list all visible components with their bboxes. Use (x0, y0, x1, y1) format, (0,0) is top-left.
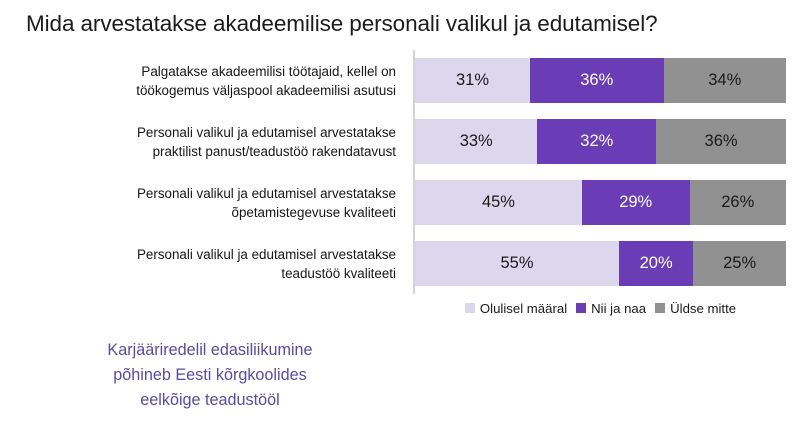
bar-segment-olulisel-maaral[interactable]: 31% (415, 58, 530, 103)
caption-line: Karjääriredelil edasiliikumine (24, 338, 396, 363)
caption-line: põhineb Eesti kõrgkoolides (24, 363, 396, 388)
legend-label: Olulisel määral (480, 301, 567, 316)
category-label-line: Personali valikul ja edutamisel arvestat… (137, 123, 396, 142)
legend-item-uldse-mitte[interactable]: Üldse mitte (655, 301, 736, 316)
bar-segment-uldse-mitte[interactable]: 36% (656, 119, 786, 164)
chart-legend: Olulisel määral Nii ja naa Üldse mitte (415, 298, 786, 318)
bar-track: 55% 20% 25% (415, 241, 786, 286)
bar-segment-nii-ja-naa[interactable]: 29% (582, 180, 690, 225)
legend-swatch-icon (465, 303, 475, 313)
category-label-line: töökogemus väljaspool akadeemilisi asutu… (136, 81, 396, 100)
category-label-line: Palgatakse akadeemilisi töötajaid, kelle… (141, 62, 396, 81)
chart-row: Personali valikul ja edutamisel arvestat… (0, 233, 800, 294)
bar-segment-olulisel-maaral[interactable]: 55% (415, 241, 619, 286)
legend-swatch-icon (576, 303, 586, 313)
legend-item-olulisel-maaral[interactable]: Olulisel määral (465, 301, 567, 316)
legend-item-nii-ja-naa[interactable]: Nii ja naa (576, 301, 646, 316)
category-label-line: Personali valikul ja edutamisel arvestat… (137, 184, 396, 203)
stacked-bar-chart: Palgatakse akadeemilisi töötajaid, kelle… (0, 50, 800, 294)
chart-row: Personali valikul ja edutamisel arvestat… (0, 172, 800, 233)
category-label-line: õpetamistegevuse kvaliteeti (232, 203, 397, 222)
chart-row: Personali valikul ja edutamisel arvestat… (0, 111, 800, 172)
chart-row: Palgatakse akadeemilisi töötajaid, kelle… (0, 50, 800, 111)
category-label-line: Personali valikul ja edutamisel arvestat… (137, 245, 396, 264)
legend-label: Nii ja naa (591, 301, 646, 316)
summary-caption: Karjääriredelil edasiliikumine põhineb E… (24, 338, 396, 413)
bar-segment-olulisel-maaral[interactable]: 33% (415, 119, 537, 164)
bar-track: 45% 29% 26% (415, 180, 786, 225)
category-label: Personali valikul ja edutamisel arvestat… (36, 172, 396, 233)
bar-segment-uldse-mitte[interactable]: 26% (690, 180, 786, 225)
page-title: Mida arvestatakse akadeemilise personali… (26, 9, 776, 39)
legend-swatch-icon (655, 303, 665, 313)
bar-segment-nii-ja-naa[interactable]: 32% (537, 119, 656, 164)
bar-segment-nii-ja-naa[interactable]: 36% (530, 58, 664, 103)
category-label: Personali valikul ja edutamisel arvestat… (36, 233, 396, 294)
category-label: Personali valikul ja edutamisel arvestat… (36, 111, 396, 172)
bar-segment-uldse-mitte[interactable]: 34% (664, 58, 786, 103)
bar-segment-uldse-mitte[interactable]: 25% (693, 241, 786, 286)
bar-segment-nii-ja-naa[interactable]: 20% (619, 241, 693, 286)
legend-label: Üldse mitte (670, 301, 736, 316)
bar-track: 33% 32% 36% (415, 119, 786, 164)
category-label-line: teadustöö kvaliteeti (281, 264, 396, 283)
caption-line: eelkõige teadustööl (24, 388, 396, 413)
bar-segment-olulisel-maaral[interactable]: 45% (415, 180, 582, 225)
bar-track: 31% 36% 34% (415, 58, 786, 103)
category-label-line: praktilist panust/teadustöö rakendatavus… (153, 142, 396, 161)
category-label: Palgatakse akadeemilisi töötajaid, kelle… (36, 50, 396, 111)
